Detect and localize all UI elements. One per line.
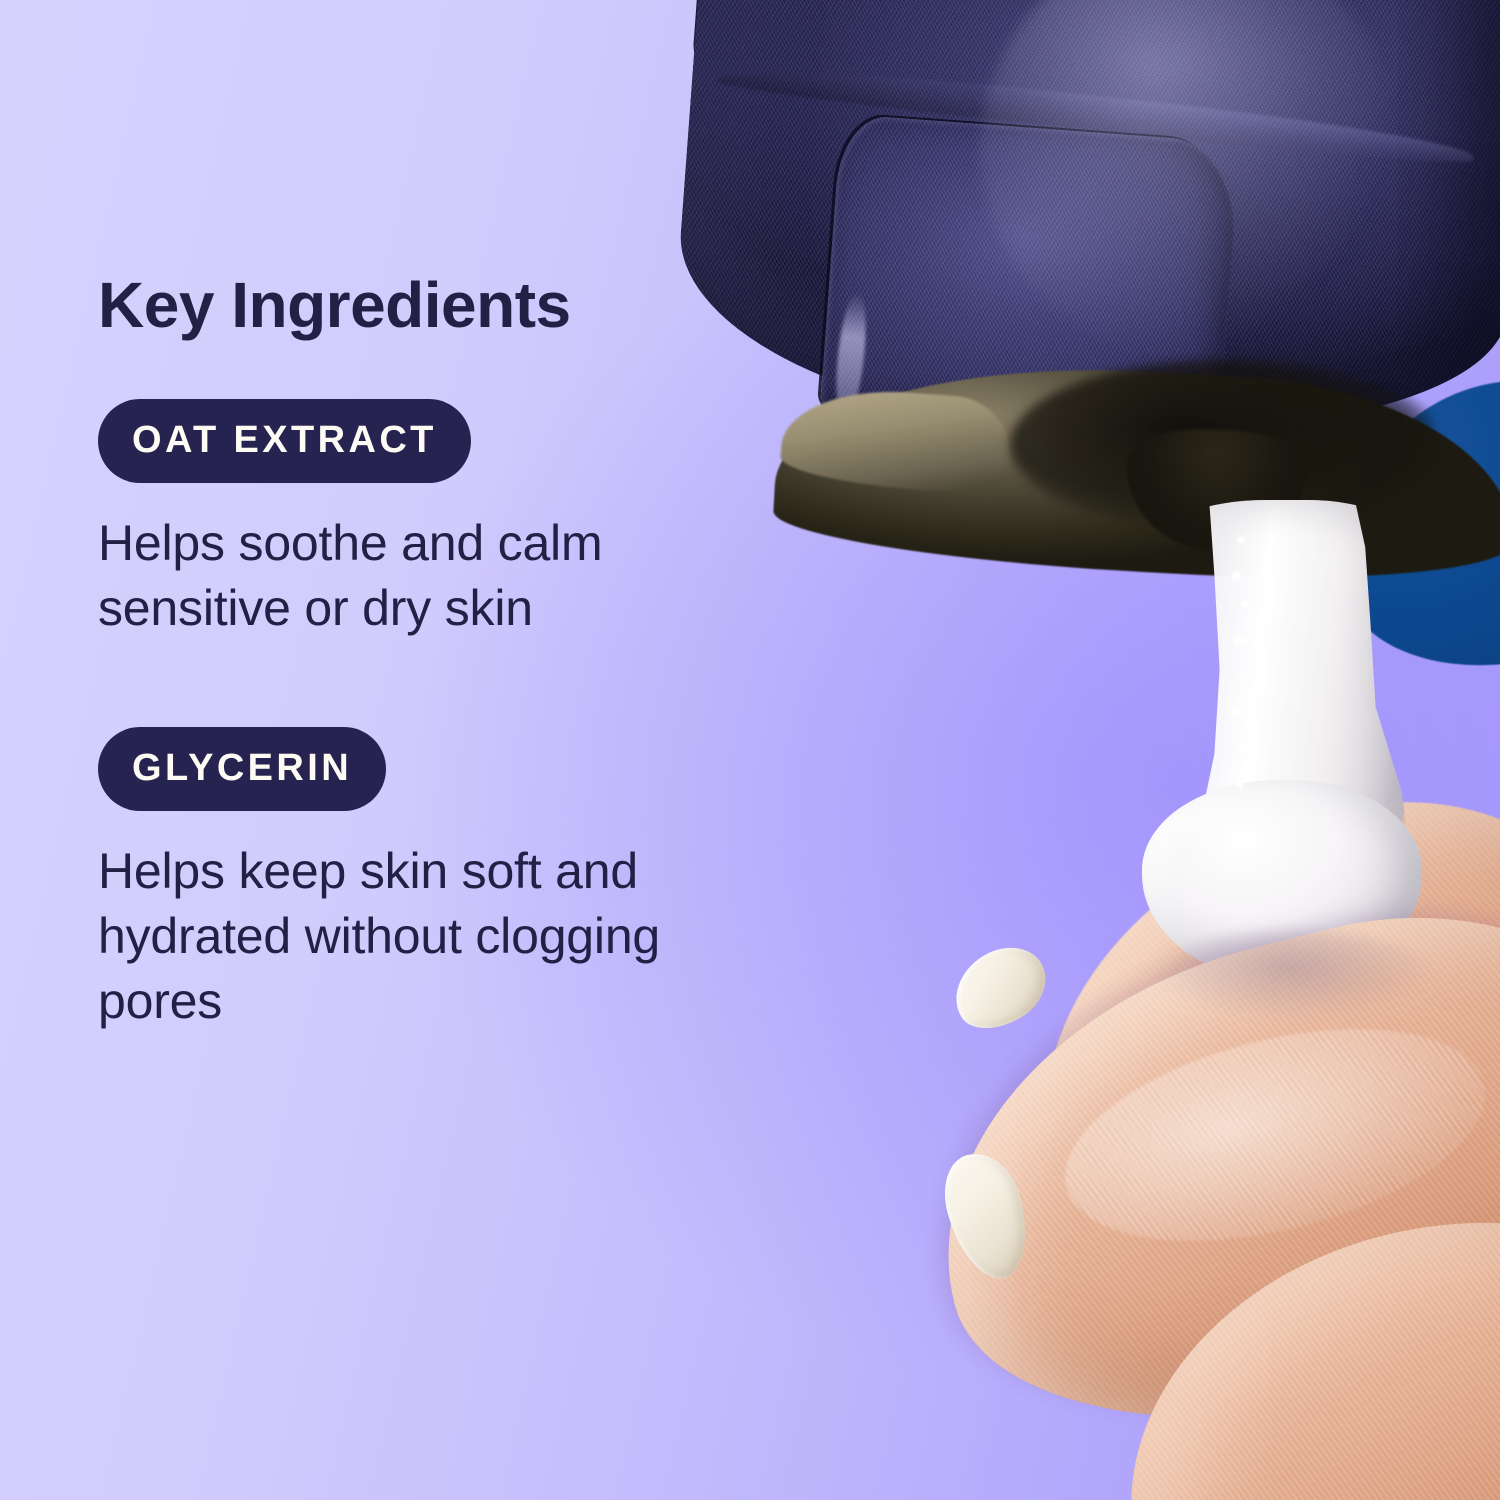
fingernail-upper: [1235, 922, 1362, 994]
ingredient-badge-oat-extract: OAT EXTRACT: [98, 399, 471, 483]
finger-upper: [978, 739, 1500, 1322]
gel-contact-shadow: [1150, 930, 1430, 1020]
pump-head-underside-shadow: [1010, 360, 1440, 530]
finger-pad-highlight: [1043, 991, 1500, 1279]
blue-bottle-body: [1320, 365, 1500, 684]
fingernail-lower: [934, 1144, 1040, 1287]
finger-lower: [1083, 1170, 1500, 1500]
gel-drop-bulb: [1142, 780, 1422, 980]
pump-head-upper-band: [686, 0, 1475, 207]
fingernail-front: [940, 932, 1060, 1044]
ingredient-item-glycerin: GLYCERIN Helps keep skin soft and hydrat…: [98, 727, 798, 1034]
page-title: Key Ingredients: [98, 272, 798, 339]
ingredient-badge-glycerin: GLYCERIN: [98, 727, 386, 811]
ingredient-description-glycerin: Helps keep skin soft and hydrated withou…: [98, 839, 738, 1034]
pump-head-underside: [771, 353, 1500, 591]
gel-drop-stream: [1152, 500, 1412, 970]
ingredient-description-oat-extract: Helps soothe and calm sensitive or dry s…: [98, 511, 738, 641]
nozzle-opening: [1124, 427, 1308, 553]
product-ingredient-card: Key Ingredients OAT EXTRACT Helps soothe…: [0, 0, 1500, 1500]
pump-head-seam-highlight: [716, 56, 1475, 169]
pump-head-underside-rim: [779, 384, 1015, 496]
ingredient-copy: Key Ingredients OAT EXTRACT Helps soothe…: [98, 272, 798, 1034]
pump-head-pad-highlight: [831, 291, 870, 421]
pump-head-gloss-sparkle: [980, 0, 1400, 360]
ingredient-item-oat-extract: OAT EXTRACT Helps soothe and calm sensit…: [98, 399, 798, 641]
gel-specular-highlights: [1224, 518, 1258, 878]
pump-head-recessed-pad: [820, 114, 1241, 442]
finger-front: [888, 855, 1500, 1495]
